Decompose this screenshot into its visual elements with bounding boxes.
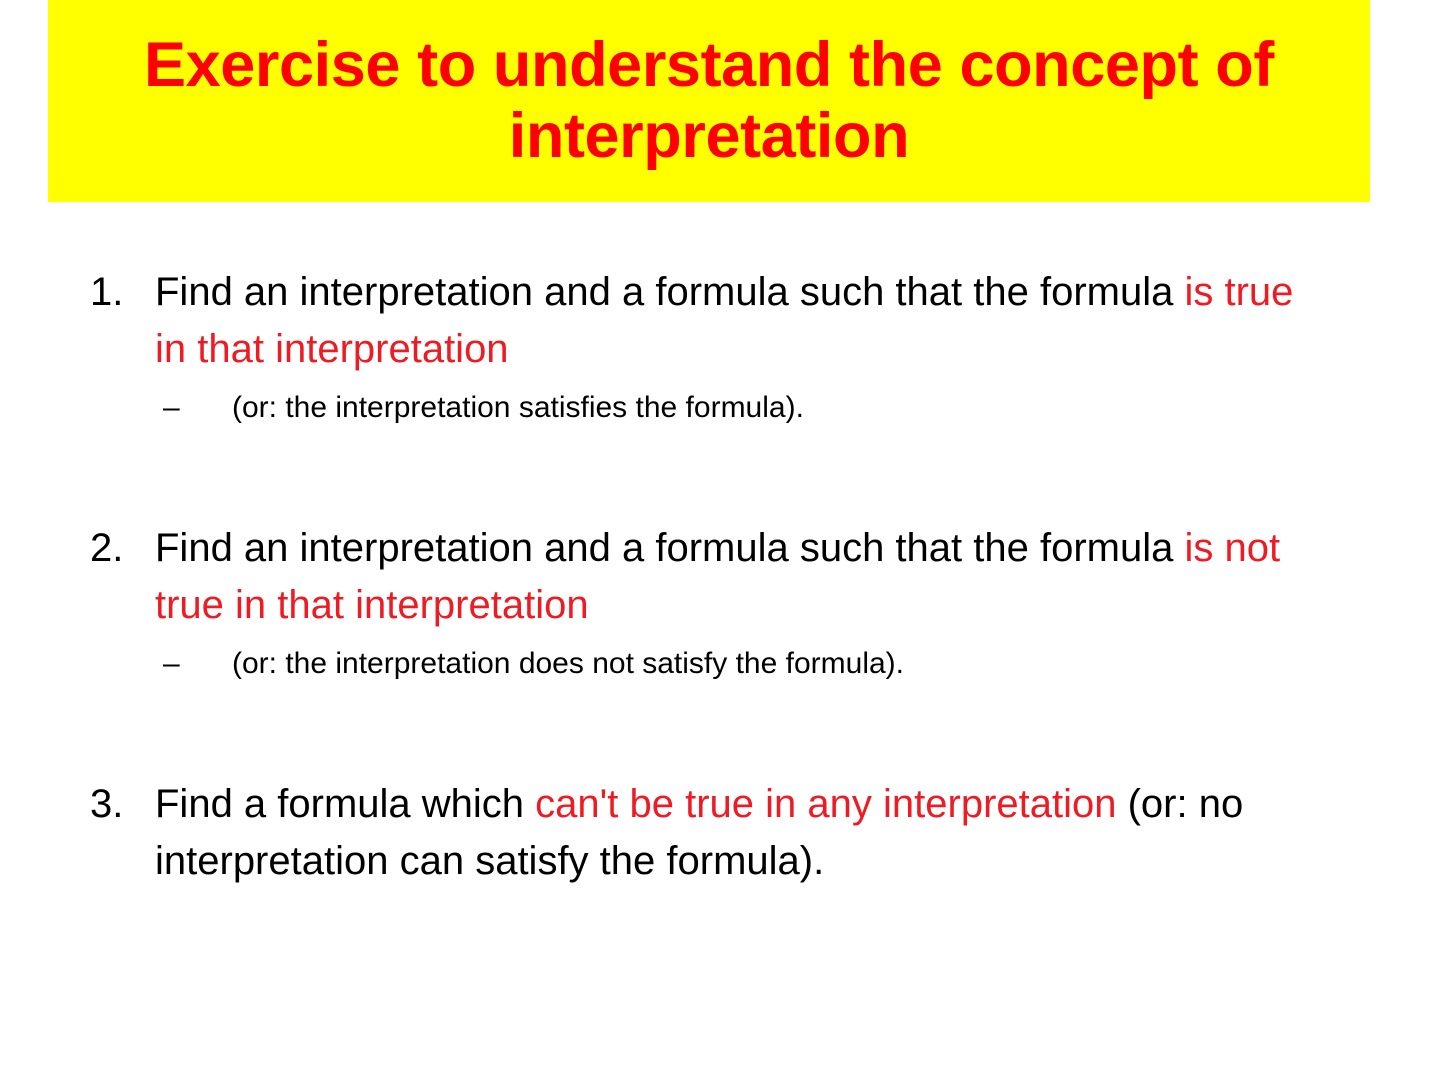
dash-bullet-icon: –	[163, 643, 232, 685]
list-item: 3. Find a formula which can't be true in…	[90, 776, 1335, 890]
list-item-number: 1.	[90, 264, 155, 321]
title-banner: Exercise to understand the concept of in…	[48, 0, 1370, 202]
sub-list-item-text: (or: the interpretation does not satisfy…	[232, 643, 1333, 685]
list-item: 1. Find an interpretation and a formula …	[90, 264, 1335, 378]
sub-list-item-text: (or: the interpretation satisfies the fo…	[232, 387, 1333, 429]
list-item-text: Find an interpretation and a formula suc…	[155, 264, 1335, 378]
list-item-number: 3.	[90, 776, 155, 833]
list-item-text: Find a formula which can't be true in an…	[155, 776, 1335, 890]
sub-list-item: – (or: the interpretation does not satis…	[163, 643, 1333, 685]
list-item-run-red: can't be true in any interpretation	[535, 782, 1116, 826]
list-item-run-black: Find an interpretation and a formula suc…	[155, 270, 1184, 314]
page-title: Exercise to understand the concept of in…	[72, 30, 1346, 172]
list-item-run-black: Find an interpretation and a formula suc…	[155, 526, 1184, 570]
body-content: 1. Find an interpretation and a formula …	[0, 202, 1440, 1080]
list-item-run-black: Find a formula which	[155, 782, 535, 826]
sub-list-item: – (or: the interpretation satisfies the …	[163, 387, 1333, 429]
list-item-number: 2.	[90, 520, 155, 577]
list-item: 2. Find an interpretation and a formula …	[90, 520, 1335, 634]
dash-bullet-icon: –	[163, 387, 232, 429]
list-item-text: Find an interpretation and a formula suc…	[155, 520, 1335, 634]
